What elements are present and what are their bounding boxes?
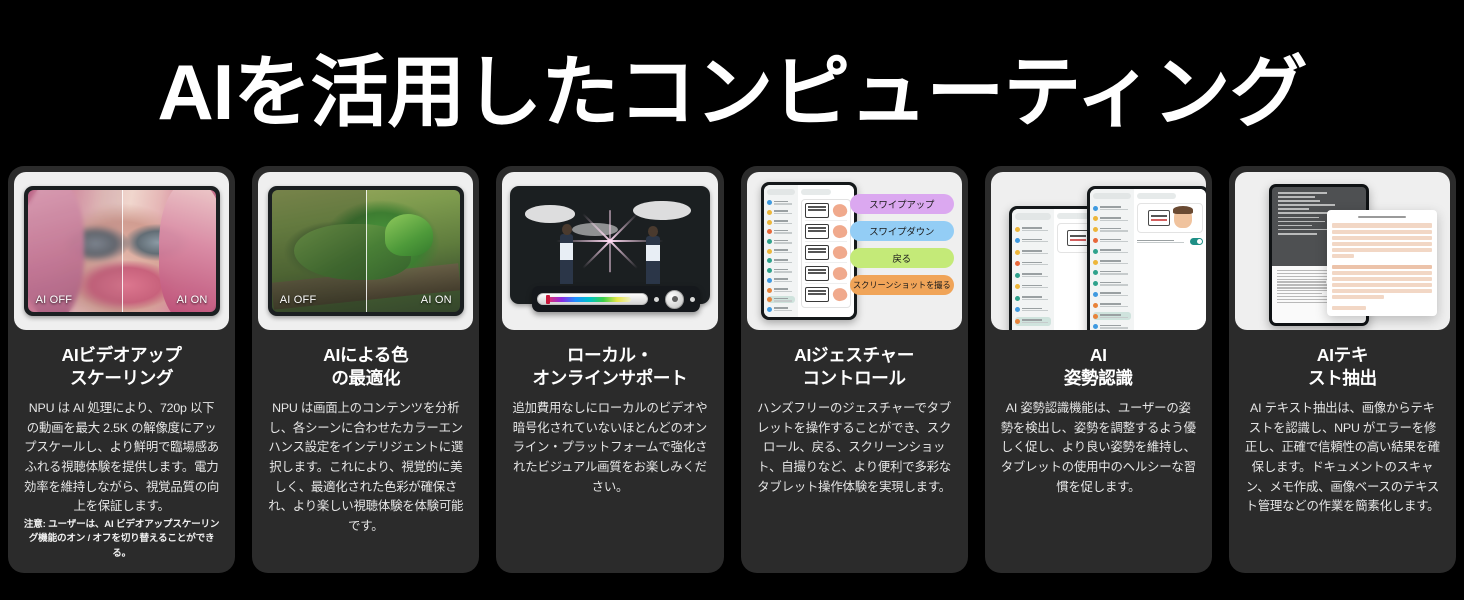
- face-icon: [1174, 208, 1192, 228]
- feature-card-ai-text-extraction[interactable]: AIテキ スト抽出 AI テキスト抽出は、画像からテキストを認識し、NPU がエ…: [1229, 166, 1456, 573]
- settings-sidebar: [1012, 209, 1055, 330]
- player-dot-icon: [690, 297, 695, 302]
- panel-title: [1358, 216, 1406, 218]
- comparison-split-line: [366, 190, 368, 312]
- list-item[interactable]: [767, 286, 795, 293]
- highlighted-text-line: [1332, 271, 1432, 275]
- list-item[interactable]: [767, 248, 795, 255]
- list-item[interactable]: [1015, 294, 1052, 303]
- highlighted-text-line: [1332, 265, 1432, 269]
- gesture-pill-screenshot[interactable]: スクリーンショットを撮る: [850, 275, 954, 295]
- feature-card-ai-color-optimization[interactable]: AI OFF AI ON AIによる色 の最適化 NPU は画面上のコンテンツを…: [252, 166, 479, 573]
- card-note: 注意: ユーザーは、AI ビデオアップスケーリング機能のオン / オフを切り替え…: [22, 518, 221, 561]
- tablet-screen: [514, 190, 706, 300]
- setting-icon: [767, 297, 772, 302]
- tablet-icon: [805, 203, 829, 218]
- gesture-row: [805, 203, 847, 221]
- character-head: [648, 226, 658, 237]
- list-item[interactable]: [1015, 248, 1052, 257]
- card-description: AI テキスト抽出は、画像からテキストを認識し、NPU がエラーを修正し、正確で…: [1245, 399, 1440, 517]
- card-body: AIテキ スト抽出 AI テキスト抽出は、画像からテキストを認識し、NPU がエ…: [1229, 330, 1456, 573]
- cloud: [633, 201, 691, 221]
- hand-icon: [831, 286, 848, 303]
- card-title: AIジェスチャー コントロール: [794, 344, 914, 390]
- tablet-icon: [805, 245, 829, 260]
- character-shirt: [560, 243, 573, 260]
- list-item[interactable]: [1015, 271, 1052, 280]
- list-item[interactable]: [1093, 247, 1131, 255]
- character-shirt: [646, 245, 659, 261]
- slider-knob[interactable]: [546, 295, 550, 304]
- list-item[interactable]: [1093, 215, 1131, 223]
- list-item[interactable]: [767, 199, 795, 206]
- gesture-list: [801, 199, 851, 308]
- gesture-row: [805, 245, 847, 263]
- tablet-screen: AI OFF AI ON: [272, 190, 460, 312]
- hand-icon: [831, 223, 848, 240]
- character-right: [646, 236, 659, 284]
- list-item-selected[interactable]: [767, 296, 795, 303]
- tablet-icon: [805, 287, 829, 302]
- setting-icon: [767, 200, 772, 205]
- setting-icon: [767, 210, 772, 215]
- media-chameleon-comparison: AI OFF AI ON: [258, 172, 473, 330]
- setting-icon: [767, 229, 772, 234]
- tablet-screen: [1090, 189, 1206, 330]
- list-item[interactable]: [767, 257, 795, 264]
- settings-sidebar: [1090, 189, 1134, 330]
- screen-icon: [1148, 210, 1170, 226]
- pill-label: スワイプダウン: [869, 224, 934, 238]
- tablet-screen: [764, 185, 854, 317]
- card-body: ローカル・ オンラインサポート 追加費用なしにローカルのビデオや暗号化されていな…: [496, 330, 723, 573]
- highlighted-text-line: [1332, 230, 1432, 234]
- setting-icon: [767, 220, 772, 225]
- search-icon[interactable]: [1093, 193, 1131, 199]
- list-item[interactable]: [767, 238, 795, 245]
- comparison-split-line: [122, 190, 124, 312]
- setting-icon: [767, 278, 772, 283]
- highlighted-text-line: [1332, 223, 1432, 227]
- pill-label: スクリーンショットを撮る: [853, 279, 951, 291]
- setting-icon: [767, 239, 772, 244]
- highlighted-text-line: [1332, 289, 1432, 293]
- screen-icon: [1067, 230, 1089, 246]
- ai-on-label: AI ON: [177, 294, 208, 306]
- color-gradient: [548, 297, 631, 302]
- list-item[interactable]: [767, 267, 795, 274]
- tablet-frame: AI OFF AI ON: [268, 186, 464, 316]
- card-title: ローカル・ オンラインサポート: [533, 344, 688, 390]
- highlighted-text-line: [1332, 248, 1432, 252]
- highlighted-text-line: [1332, 254, 1354, 258]
- card-title: AI 姿勢認識: [1064, 344, 1133, 390]
- ai-off-label: AI OFF: [36, 294, 73, 306]
- tablet-icon: [805, 266, 829, 281]
- gesture-tablet-mock: [761, 182, 857, 320]
- cloud: [525, 205, 575, 223]
- list-item[interactable]: [1093, 280, 1131, 288]
- list-item[interactable]: [767, 306, 795, 313]
- gesture-detail-pane: [798, 185, 854, 317]
- posture-mock-wrap: [991, 172, 1206, 330]
- card-description: NPU は AI 処理により、720p 以下の動画を最大 2.5K の解像度にア…: [24, 399, 219, 517]
- search-icon[interactable]: [767, 189, 795, 195]
- tablet-screen: AI OFF AI ON: [28, 190, 216, 312]
- list-item[interactable]: [1015, 282, 1052, 291]
- card-description: 追加費用なしにローカルのビデオや暗号化されていないほとんどのオンライン・プラット…: [512, 399, 707, 497]
- posture-toggle[interactable]: [1190, 238, 1203, 245]
- video-player-bar[interactable]: [532, 286, 700, 312]
- highlighted-text-line: [1332, 242, 1432, 246]
- card-description: AI 姿勢認識機能は、ユーザーの姿勢を検出し、姿勢を調整するよう優しく促し、より…: [1001, 399, 1196, 497]
- search-icon[interactable]: [1015, 213, 1052, 220]
- character-head: [562, 224, 572, 235]
- posture-illustration: [1148, 208, 1192, 228]
- media-gesture-tablet: スワイプアップ スワイプダウン 戻る スクリーンショットを撮る: [747, 172, 962, 330]
- ai-on-label: AI ON: [421, 294, 452, 306]
- setting-icon: [767, 268, 772, 273]
- card-title: AIテキ スト抽出: [1308, 344, 1377, 390]
- character-left: [560, 234, 573, 285]
- player-dial-button[interactable]: [665, 290, 684, 309]
- highlighted-text-line: [1332, 295, 1384, 299]
- list-item[interactable]: [1015, 236, 1052, 245]
- tablet-frame: AI OFF AI ON: [24, 186, 220, 316]
- gesture-row: [805, 266, 847, 284]
- feature-card-grid: AI OFF AI ON AIビデオアップ スケーリング NPU は AI 処理…: [8, 166, 1456, 573]
- list-item[interactable]: [1015, 225, 1052, 234]
- pill-label: 戻る: [892, 251, 911, 265]
- setting-icon: [767, 288, 772, 293]
- list-item[interactable]: [1093, 323, 1131, 330]
- feature-card-ai-gesture-control[interactable]: スワイプアップ スワイプダウン 戻る スクリーンショットを撮る AIジェスチャー…: [741, 166, 968, 573]
- pill-label: スワイプアップ: [869, 197, 934, 211]
- settings-sidebar: [764, 185, 798, 317]
- media-posture-tablets: [991, 172, 1206, 330]
- promo-page: AIを活用したコンピューティング AI OFF AI ON: [0, 0, 1464, 600]
- gesture-pill-back[interactable]: 戻る: [850, 248, 954, 268]
- setting-icon: [767, 258, 772, 263]
- gesture-action-pills: スワイプアップ スワイプダウン 戻る スクリーンショットを撮る: [850, 194, 954, 295]
- list-item[interactable]: [1093, 269, 1131, 277]
- highlighted-text-line: [1332, 277, 1432, 281]
- setting-icon: [767, 249, 772, 254]
- list-item[interactable]: [1015, 305, 1052, 314]
- media-anime-video-player: [502, 172, 717, 330]
- gesture-row: [805, 224, 847, 242]
- list-item[interactable]: [767, 219, 795, 226]
- chameleon-head: [385, 214, 434, 255]
- hand-icon: [831, 244, 848, 261]
- gesture-row: [805, 287, 847, 304]
- card-description: ハンズフリーのジェスチャーでタブレットを操作することができ、スクロール、戻る、ス…: [757, 399, 952, 497]
- feature-card-ai-posture-detection[interactable]: AI 姿勢認識 AI 姿勢認識機能は、ユーザーの姿勢を検出し、姿勢を調整するよう…: [985, 166, 1212, 573]
- hand-icon: [831, 202, 848, 219]
- feature-card-local-online-support[interactable]: ローカル・ オンラインサポート 追加費用なしにローカルのビデオや暗号化されていな…: [496, 166, 723, 573]
- list-item[interactable]: [1093, 236, 1131, 244]
- hand-icon: [831, 265, 848, 282]
- list-item[interactable]: [1015, 259, 1052, 268]
- list-item[interactable]: [767, 277, 795, 284]
- tablet-icon: [805, 224, 829, 239]
- feature-card-ai-video-upscaling[interactable]: AI OFF AI ON AIビデオアップ スケーリング NPU は AI 処理…: [8, 166, 235, 573]
- media-text-extract-tablet: [1235, 172, 1450, 330]
- player-dot-icon: [654, 297, 659, 302]
- list-item[interactable]: [767, 209, 795, 216]
- highlighted-text-line: [1332, 236, 1432, 240]
- pane-title: [801, 189, 831, 195]
- text-extract-mock-wrap: [1235, 172, 1450, 330]
- anime-scene-image: [514, 190, 706, 300]
- posture-detail-pane: [1134, 189, 1206, 330]
- posture-preview-card: [1137, 203, 1203, 233]
- page-title: AIを活用したコンピューティング: [0, 52, 1464, 134]
- list-item[interactable]: [1093, 226, 1131, 234]
- ai-off-label: AI OFF: [280, 294, 317, 306]
- extract-result-panel: [1327, 210, 1437, 316]
- card-title: AIビデオアップ スケーリング: [62, 344, 182, 390]
- card-title: AIによる色 の最適化: [323, 344, 408, 390]
- list-item-selected[interactable]: [1093, 312, 1131, 320]
- list-item-selected[interactable]: [1015, 317, 1052, 326]
- setting-icon: [767, 307, 772, 312]
- gesture-pill-swipe-down[interactable]: スワイプダウン: [850, 221, 954, 241]
- list-item[interactable]: [1093, 258, 1131, 266]
- card-body: AI 姿勢認識 AI 姿勢認識機能は、ユーザーの姿勢を検出し、姿勢を調整するよう…: [985, 330, 1212, 573]
- card-description: NPU は画面上のコンテンツを分析し、各シーンに合わせたカラーエンハンス設定をイ…: [268, 399, 463, 536]
- highlighted-text-line: [1332, 306, 1366, 310]
- card-body: AIによる色 の最適化 NPU は画面上のコンテンツを分析し、各シーンに合わせた…: [252, 330, 479, 573]
- list-item[interactable]: [767, 228, 795, 235]
- pane-title: [1137, 193, 1177, 199]
- list-item[interactable]: [1093, 301, 1131, 309]
- gesture-pill-swipe-up[interactable]: スワイプアップ: [850, 194, 954, 214]
- card-body: AIジェスチャー コントロール ハンズフリーのジェスチャーでタブレットを操作する…: [741, 330, 968, 573]
- list-item[interactable]: [1093, 290, 1131, 298]
- highlighted-text-line: [1332, 283, 1432, 287]
- posture-tablet-front: [1087, 186, 1206, 330]
- media-portrait-comparison: AI OFF AI ON: [14, 172, 229, 330]
- color-slider-track[interactable]: [537, 293, 648, 305]
- list-item[interactable]: [1093, 204, 1131, 212]
